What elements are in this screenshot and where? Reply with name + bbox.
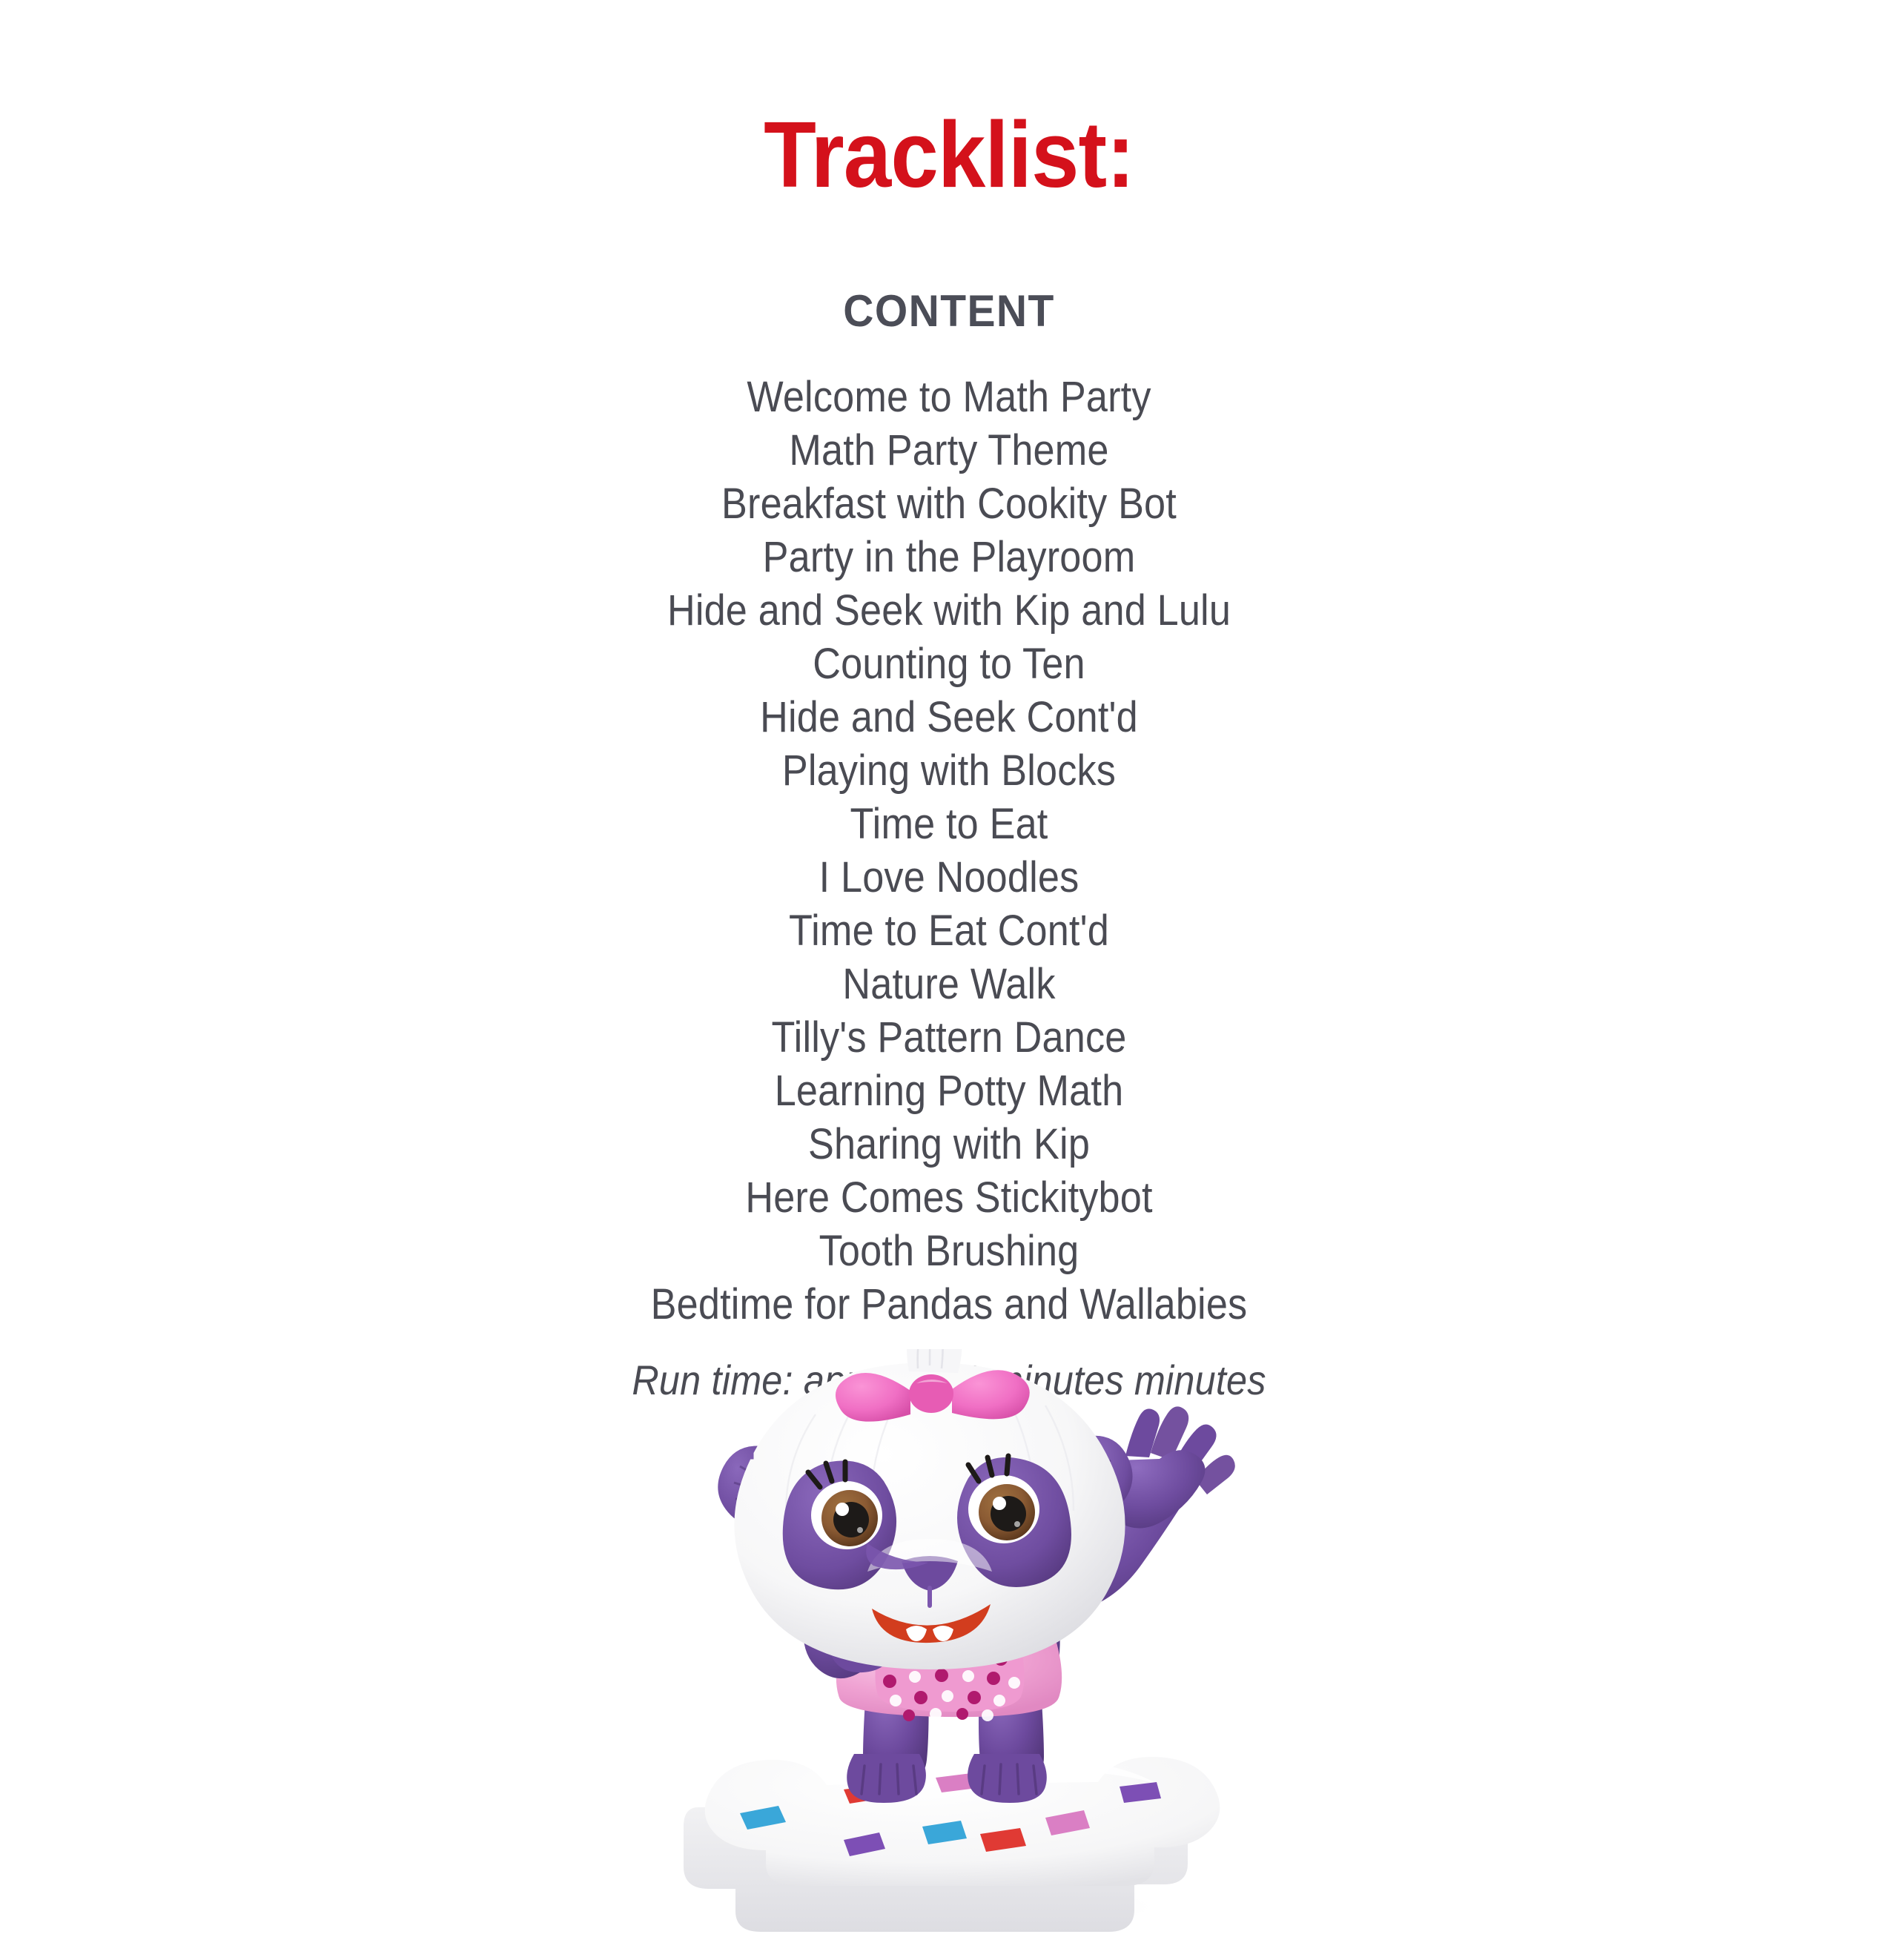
track-item: Tilly's Pattern Dance <box>95 1011 1803 1065</box>
track-item: Here Comes Stickitybot <box>95 1171 1803 1225</box>
track-item: Bedtime for Pandas and Wallabies <box>95 1278 1803 1331</box>
track-item: Nature Walk <box>95 958 1803 1011</box>
track-item: Hide and Seek Cont'd <box>95 691 1803 744</box>
track-item: I Love Noodles <box>95 851 1803 904</box>
track-item: Sharing with Kip <box>95 1118 1803 1171</box>
track-item: Playing with Blocks <box>95 744 1803 798</box>
track-item: Welcome to Math Party <box>95 371 1803 424</box>
tracklist-page: Tracklist: CONTENT Welcome to Math Party… <box>0 62 1898 1960</box>
panda-figurine-image <box>645 1349 1253 1950</box>
track-item: Tooth Brushing <box>95 1225 1803 1278</box>
figurine-head <box>718 1349 1132 1669</box>
page-title: Tracklist: <box>76 62 1822 202</box>
eye-left <box>811 1481 882 1549</box>
track-item: Math Party Theme <box>95 424 1803 477</box>
track-item: Counting to Ten <box>95 638 1803 691</box>
track-item: Learning Potty Math <box>95 1065 1803 1118</box>
eye-right <box>968 1475 1039 1543</box>
product-image-container <box>0 1349 1898 1950</box>
track-item: Party in the Playroom <box>95 531 1803 584</box>
track-item: Hide and Seek with Kip and Lulu <box>95 584 1803 638</box>
track-item: Breakfast with Cookity Bot <box>95 477 1803 531</box>
hair-tuft <box>907 1349 962 1373</box>
track-item: Time to Eat <box>95 798 1803 851</box>
track-list: Welcome to Math Party Math Party Theme B… <box>0 371 1898 1331</box>
track-item: Time to Eat Cont'd <box>95 904 1803 958</box>
content-heading: CONTENT <box>47 289 1851 334</box>
